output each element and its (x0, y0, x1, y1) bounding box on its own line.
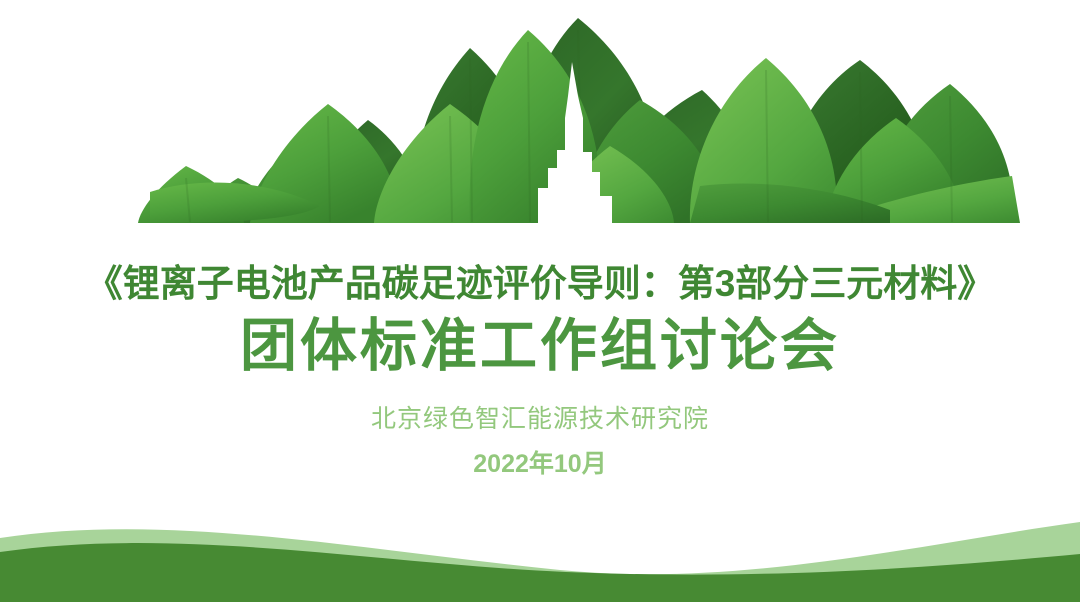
page-title: 团体标准工作组讨论会 (0, 312, 1080, 382)
organization-name: 北京绿色智汇能源技术研究院 (0, 399, 1080, 435)
title-block: 《锂离子电池产品碳足迹评价导则：第3部分三元材料》 团体标准工作组讨论会 北京绿… (0, 262, 1080, 480)
slide-date: 2022年10月 (0, 444, 1080, 480)
standard-title-line: 《锂离子电池产品碳足迹评价导则：第3部分三元材料》 (0, 262, 1080, 306)
title-slide: 《锂离子电池产品碳足迹评价导则：第3部分三元材料》 团体标准工作组讨论会 北京绿… (0, 0, 1080, 602)
leaf-cluster-group (138, 18, 1020, 223)
leaf-cluster-banner (0, 0, 1080, 230)
wave-footer (0, 492, 1080, 602)
